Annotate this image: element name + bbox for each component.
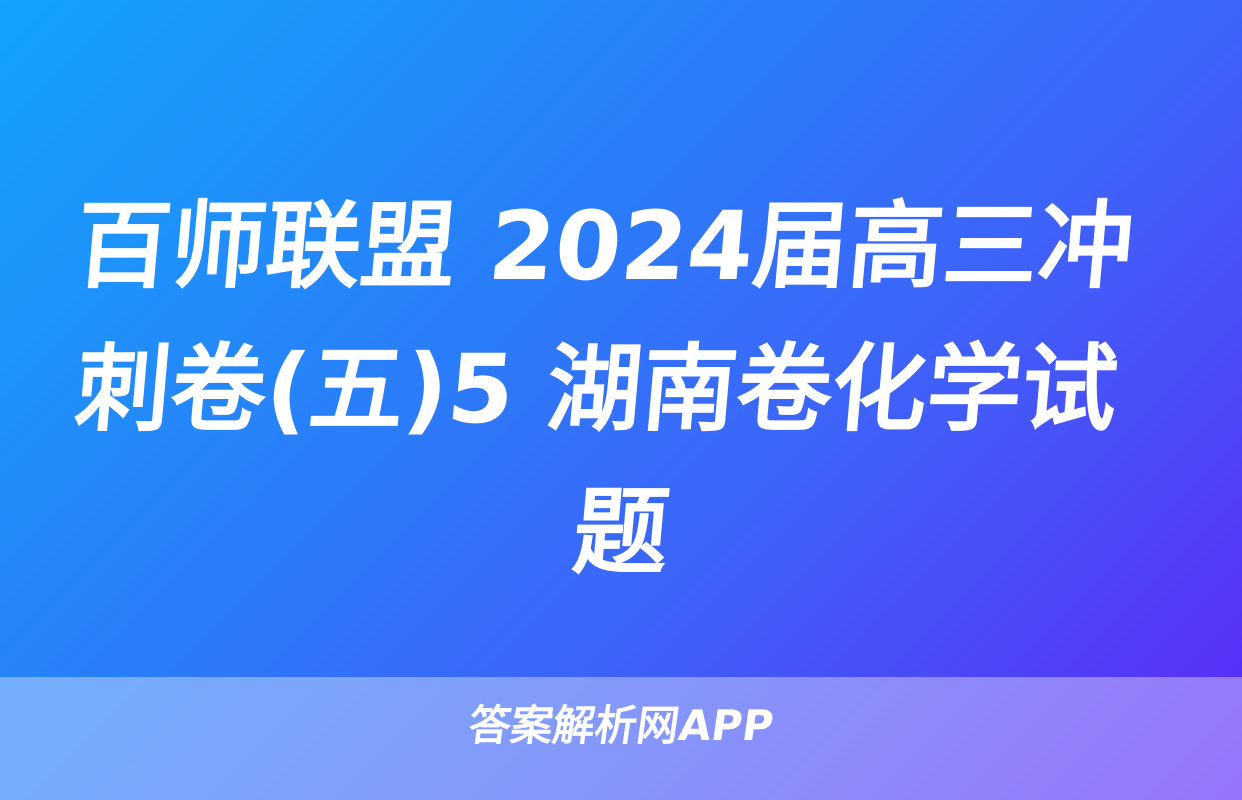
app-watermark-label: 答案解析网APP (466, 703, 777, 749)
page-title: 百师联盟 2024届高三冲 刺卷(五)5 湖南卷化学试 题 (70, 176, 1172, 605)
title-line-1: 百师联盟 2024届高三冲 (64, 176, 1179, 319)
title-line-3: 题 (64, 462, 1179, 605)
poster-canvas: 百师联盟 2024届高三冲 刺卷(五)5 湖南卷化学试 题 答案解析网APP (0, 0, 1242, 800)
footer-band: 答案解析网APP (0, 677, 1242, 800)
title-line-2: 刺卷(五)5 湖南卷化学试 (64, 319, 1179, 462)
